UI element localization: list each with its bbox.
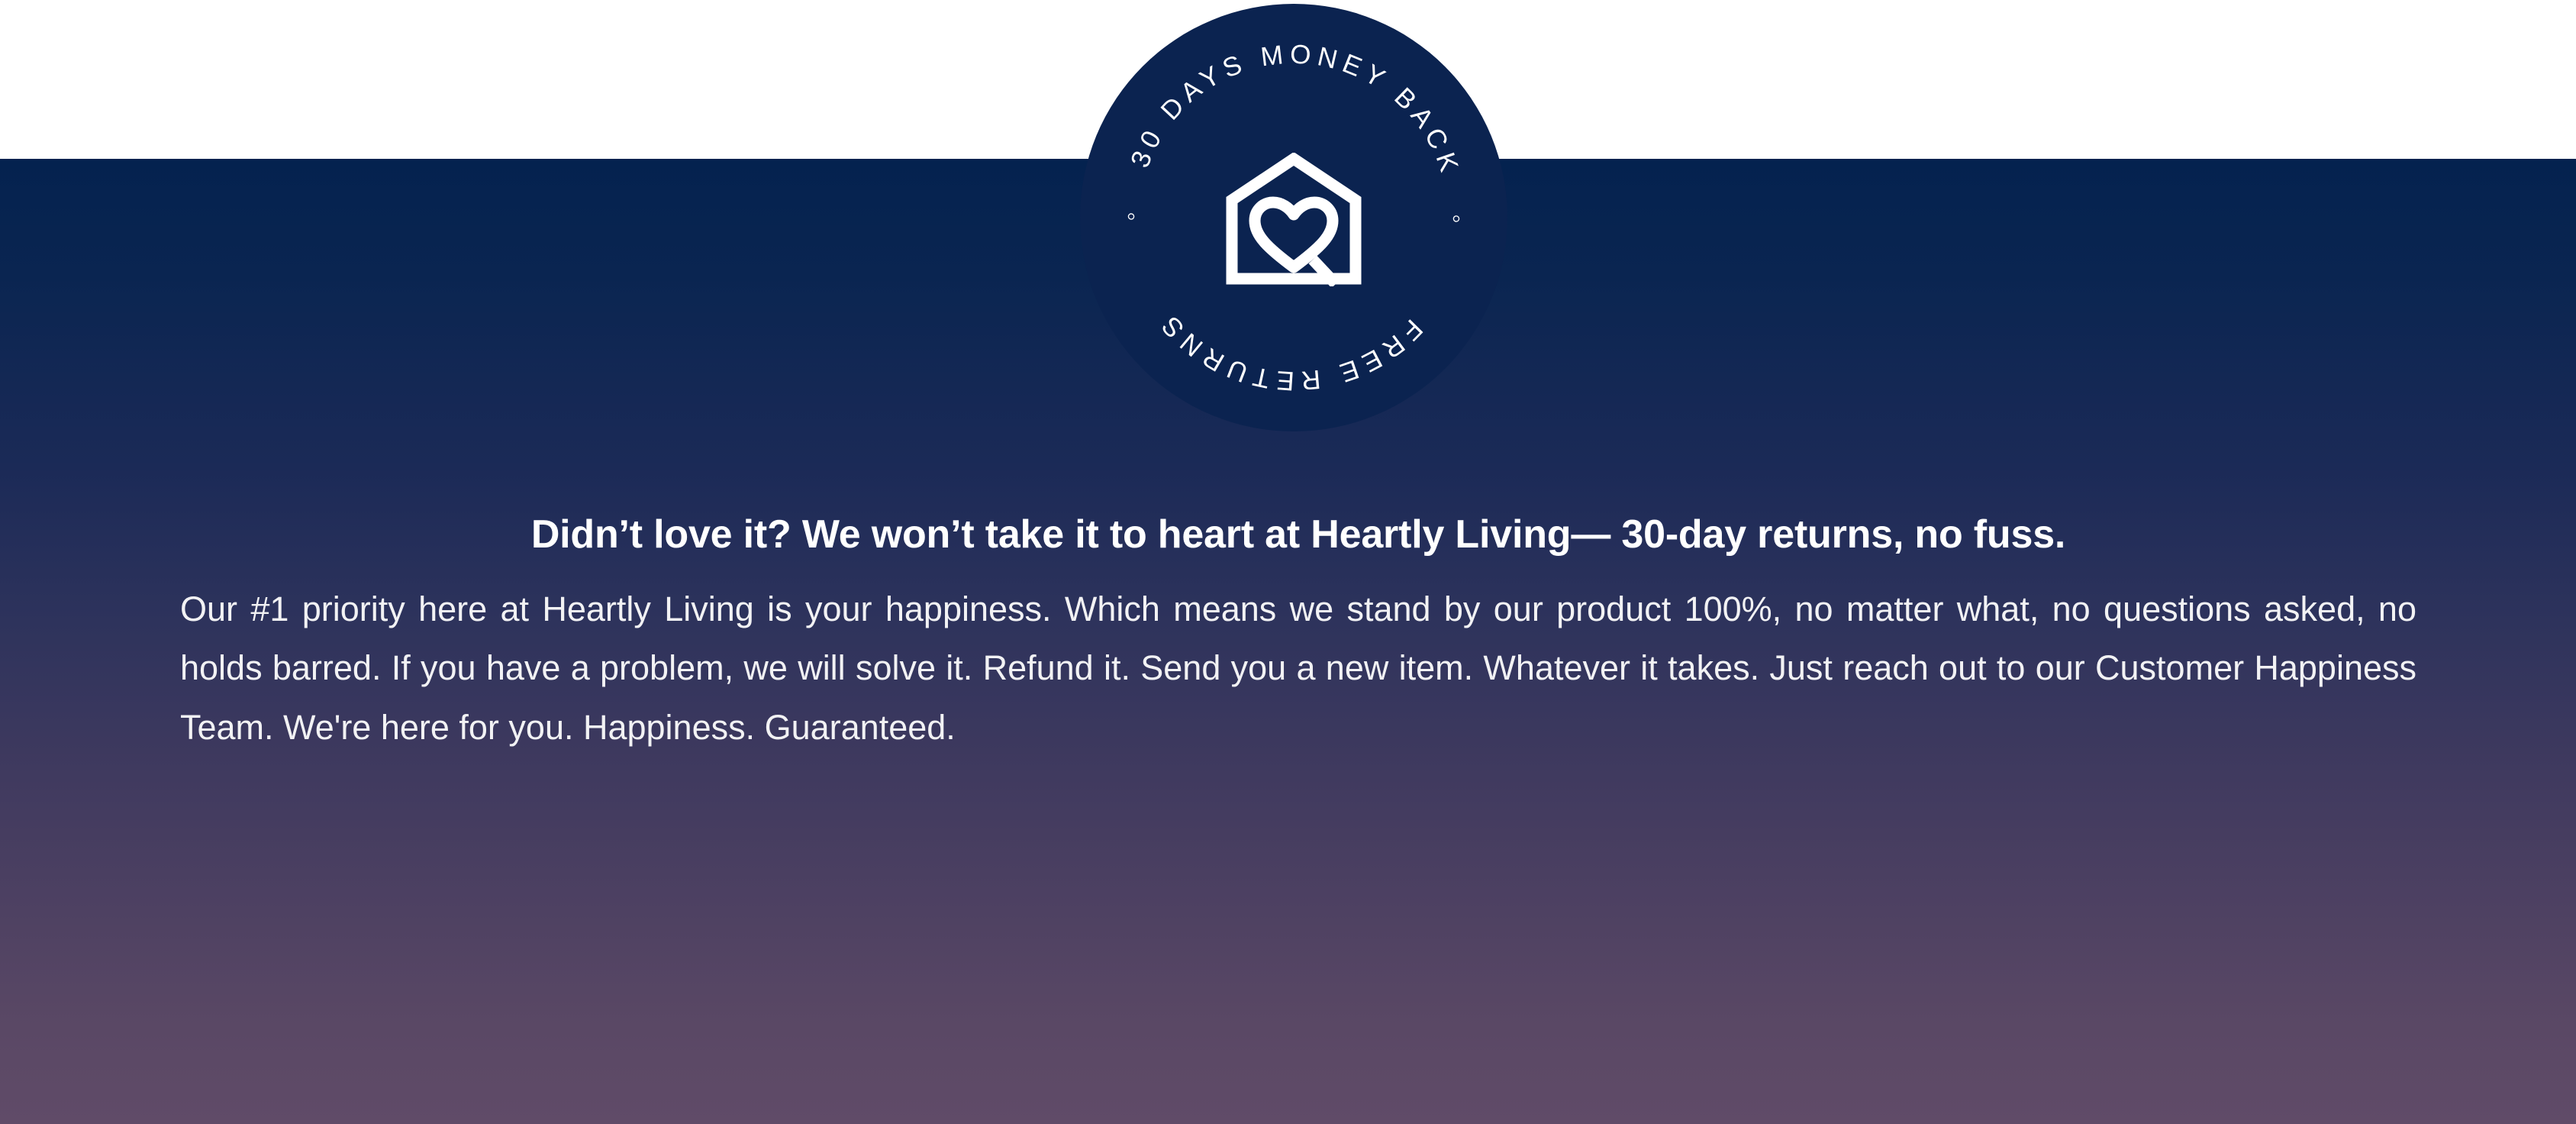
guarantee-section: 30 DAYS MONEY BACK FREE RETURNS ◦ ◦ Didn… [0, 0, 2576, 1124]
badge-ring-separator-right-path: ◦ [1442, 214, 1472, 230]
heart-shape [1255, 202, 1333, 267]
badge-ring-separator-right: ◦ [1442, 214, 1472, 230]
guarantee-copy-block: Didn’t love it? We won’t take it to hear… [180, 510, 2416, 757]
guarantee-headline: Didn’t love it? We won’t take it to hear… [180, 510, 2416, 560]
badge-ring-separator-left: ◦ [1116, 205, 1146, 221]
badge-ring-separator-left-path: ◦ [1116, 205, 1146, 221]
badge-ring-textpath-bottom: FREE RETURNS [1152, 306, 1428, 396]
badge-ring-text-bottom: FREE RETURNS [1152, 306, 1428, 396]
guarantee-paragraph: Our #1 priority here at Heartly Living i… [180, 560, 2416, 757]
guarantee-badge: 30 DAYS MONEY BACK FREE RETURNS ◦ ◦ [1080, 4, 1507, 431]
house-heart-icon [1221, 153, 1366, 286]
